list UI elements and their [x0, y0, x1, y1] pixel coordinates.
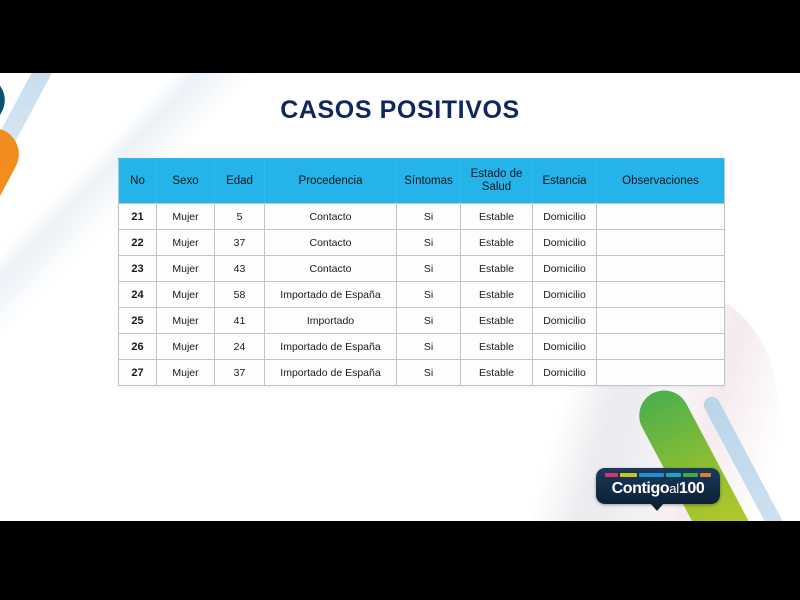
cell-estancia: Domicilio: [533, 308, 597, 334]
column-header-sintomas: Síntomas: [397, 159, 461, 204]
logo-bar-segment: [639, 473, 663, 477]
logo-bar-segment: [666, 473, 681, 477]
logo-name-small: al: [669, 481, 679, 496]
slide-canvas: CASOS POSITIVOS No Sexo Edad Procedencia…: [0, 73, 800, 521]
cell-sexo: Mujer: [157, 360, 215, 386]
cell-procedencia: Importado de España: [265, 334, 397, 360]
cell-no: 25: [119, 308, 157, 334]
positive-cases-table: No Sexo Edad Procedencia Síntomas Estado…: [118, 158, 725, 386]
cell-no: 21: [119, 204, 157, 230]
cell-estado-salud: Estable: [461, 334, 533, 360]
letterbox-bottom: [0, 521, 800, 600]
cell-no: 27: [119, 360, 157, 386]
cell-no: 22: [119, 230, 157, 256]
cell-procedencia: Importado: [265, 308, 397, 334]
cell-estancia: Domicilio: [533, 282, 597, 308]
cell-edad: 41: [215, 308, 265, 334]
table-row: 25 Mujer 41 Importado Si Estable Domicil…: [119, 308, 725, 334]
logo-name-number: 100: [679, 480, 705, 497]
table-header-row: No Sexo Edad Procedencia Síntomas Estado…: [119, 159, 725, 204]
column-header-observaciones: Observaciones: [597, 159, 725, 204]
cell-procedencia: Contacto: [265, 204, 397, 230]
left-orange-band-icon: [0, 119, 28, 408]
logo-bar-segment: [605, 473, 618, 477]
cell-edad: 43: [215, 256, 265, 282]
logo-name-main: Contigo: [612, 480, 670, 497]
cell-sintomas: Si: [397, 334, 461, 360]
table-row: 26 Mujer 24 Importado de España Si Estab…: [119, 334, 725, 360]
cell-estado-salud: Estable: [461, 204, 533, 230]
table-row: 21 Mujer 5 Contacto Si Estable Domicilio: [119, 204, 725, 230]
cell-sintomas: Si: [397, 360, 461, 386]
cell-observaciones: [597, 308, 725, 334]
cell-sintomas: Si: [397, 282, 461, 308]
presentation-screen: CASOS POSITIVOS No Sexo Edad Procedencia…: [0, 0, 800, 600]
cell-estancia: Domicilio: [533, 204, 597, 230]
cell-observaciones: [597, 360, 725, 386]
page-title: CASOS POSITIVOS: [0, 96, 800, 125]
cell-estancia: Domicilio: [533, 230, 597, 256]
cell-observaciones: [597, 282, 725, 308]
cell-estancia: Domicilio: [533, 334, 597, 360]
cell-estado-salud: Estable: [461, 282, 533, 308]
cell-sexo: Mujer: [157, 334, 215, 360]
column-header-edad: Edad: [215, 159, 265, 204]
cell-sintomas: Si: [397, 230, 461, 256]
cell-procedencia: Importado de España: [265, 360, 397, 386]
cell-observaciones: [597, 256, 725, 282]
cell-edad: 37: [215, 230, 265, 256]
contigo-al-100-logo: Contigoal100: [596, 468, 720, 504]
cell-edad: 37: [215, 360, 265, 386]
cell-sexo: Mujer: [157, 204, 215, 230]
cell-no: 24: [119, 282, 157, 308]
logo-bar-segment: [700, 473, 711, 477]
cell-sexo: Mujer: [157, 256, 215, 282]
cell-estancia: Domicilio: [533, 360, 597, 386]
cell-sexo: Mujer: [157, 308, 215, 334]
table-body: 21 Mujer 5 Contacto Si Estable Domicilio…: [119, 204, 725, 386]
cases-table-container: No Sexo Edad Procedencia Síntomas Estado…: [118, 158, 724, 386]
cell-sintomas: Si: [397, 204, 461, 230]
cell-no: 23: [119, 256, 157, 282]
cell-procedencia: Contacto: [265, 230, 397, 256]
cell-no: 26: [119, 334, 157, 360]
column-header-estado-salud: Estado de Salud: [461, 159, 533, 204]
cell-procedencia: Importado de España: [265, 282, 397, 308]
cell-procedencia: Contacto: [265, 256, 397, 282]
table-row: 23 Mujer 43 Contacto Si Estable Domicili…: [119, 256, 725, 282]
cell-sexo: Mujer: [157, 282, 215, 308]
column-header-procedencia: Procedencia: [265, 159, 397, 204]
column-header-estancia: Estancia: [533, 159, 597, 204]
cell-observaciones: [597, 204, 725, 230]
cell-observaciones: [597, 334, 725, 360]
cell-sintomas: Si: [397, 308, 461, 334]
table-row: 22 Mujer 37 Contacto Si Estable Domicili…: [119, 230, 725, 256]
cell-observaciones: [597, 230, 725, 256]
table-row: 24 Mujer 58 Importado de España Si Estab…: [119, 282, 725, 308]
cell-estado-salud: Estable: [461, 360, 533, 386]
column-header-sexo: Sexo: [157, 159, 215, 204]
table-header: No Sexo Edad Procedencia Síntomas Estado…: [119, 159, 725, 204]
cell-edad: 5: [215, 204, 265, 230]
cell-sintomas: Si: [397, 256, 461, 282]
cell-estado-salud: Estable: [461, 308, 533, 334]
letterbox-top: [0, 0, 800, 73]
cell-edad: 24: [215, 334, 265, 360]
logo-bar-segment: [683, 473, 698, 477]
logo-color-bar-icon: [605, 473, 711, 477]
logo-bar-segment: [620, 473, 637, 477]
column-header-no: No: [119, 159, 157, 204]
cell-estado-salud: Estable: [461, 256, 533, 282]
cell-estancia: Domicilio: [533, 256, 597, 282]
cell-sexo: Mujer: [157, 230, 215, 256]
logo-text: Contigoal100: [596, 480, 720, 498]
table-row: 27 Mujer 37 Importado de España Si Estab…: [119, 360, 725, 386]
cell-edad: 58: [215, 282, 265, 308]
cell-estado-salud: Estable: [461, 230, 533, 256]
